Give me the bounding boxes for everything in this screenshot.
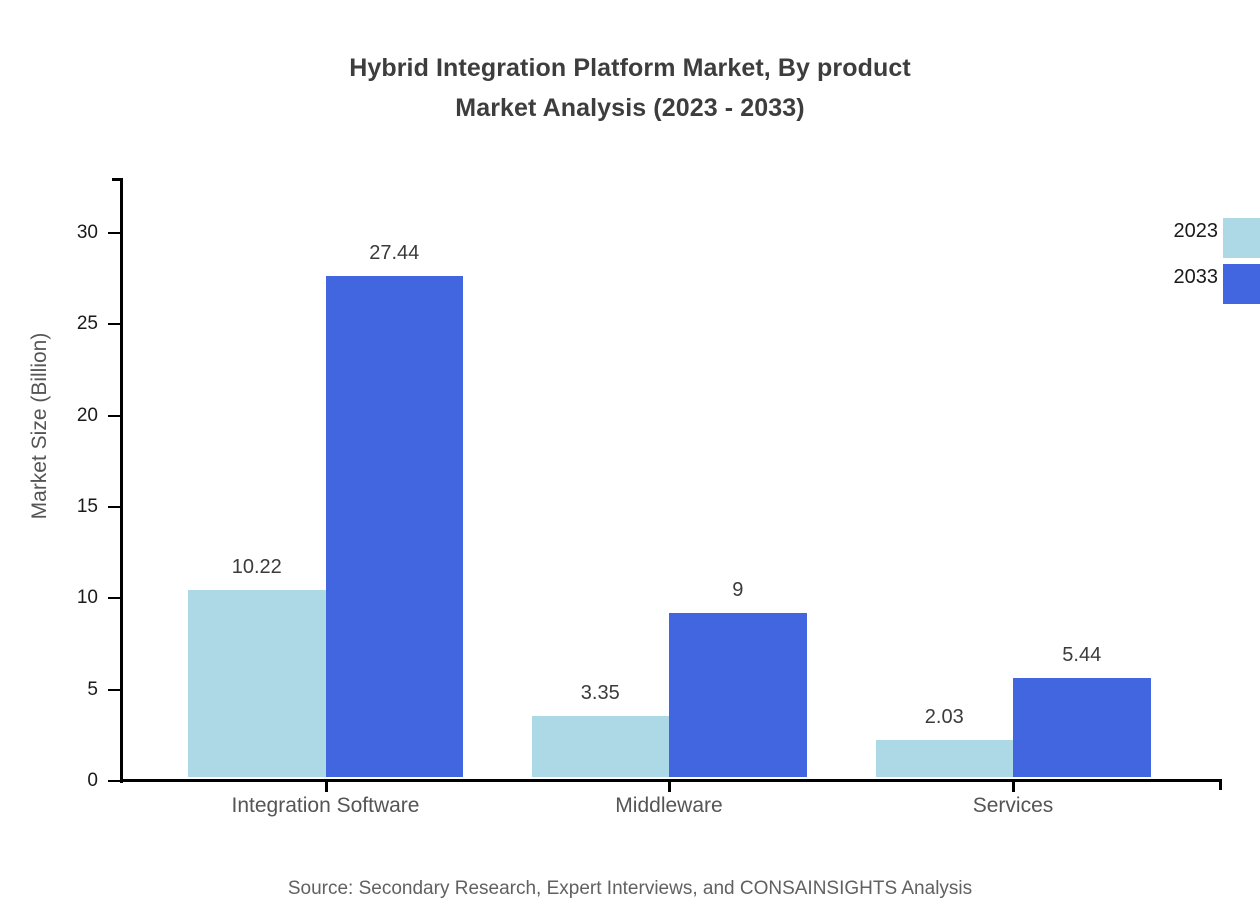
legend-label: 2033 xyxy=(1174,266,1219,289)
x-axis-tick xyxy=(1012,781,1015,792)
bar-value-label: 27.44 xyxy=(294,242,494,265)
bar-value-label: 2.03 xyxy=(844,706,1044,729)
bar-value-label: 5.44 xyxy=(982,644,1182,667)
bar[interactable] xyxy=(188,590,326,777)
chart-title-line-2: Market Analysis (2023 - 2033) xyxy=(0,88,1260,128)
chart-title-line-1: Hybrid Integration Platform Market, By p… xyxy=(0,48,1260,88)
bar-chart: Hybrid Integration Platform Market, By p… xyxy=(0,0,1260,920)
legend-item[interactable]: 2023 xyxy=(1100,218,1260,264)
source-note: Source: Secondary Research, Expert Inter… xyxy=(0,878,1260,900)
x-axis-tick xyxy=(325,781,328,792)
bar[interactable] xyxy=(876,740,1014,777)
x-axis-category-label: Integration Software xyxy=(126,794,526,818)
x-axis-end-cap xyxy=(1219,779,1222,790)
x-axis-category-label: Middleware xyxy=(469,794,869,818)
bar[interactable] xyxy=(326,276,464,777)
legend-color-swatch xyxy=(1223,264,1260,304)
bar-value-label: 3.35 xyxy=(500,682,700,705)
legend-color-swatch xyxy=(1223,218,1260,258)
bar-value-label: 10.22 xyxy=(157,556,357,579)
y-axis-tick xyxy=(108,780,122,782)
bar-value-label: 9 xyxy=(638,579,838,602)
legend-item[interactable]: 2033 xyxy=(1100,264,1260,310)
legend-label: 2023 xyxy=(1174,220,1219,243)
bar[interactable] xyxy=(532,716,670,777)
x-axis-tick xyxy=(668,781,671,792)
chart-title: Hybrid Integration Platform Market, By p… xyxy=(0,48,1260,128)
x-axis-line xyxy=(122,779,1222,782)
x-axis-category-label: Services xyxy=(813,794,1213,818)
chart-legend: 20232033 xyxy=(1100,218,1260,310)
